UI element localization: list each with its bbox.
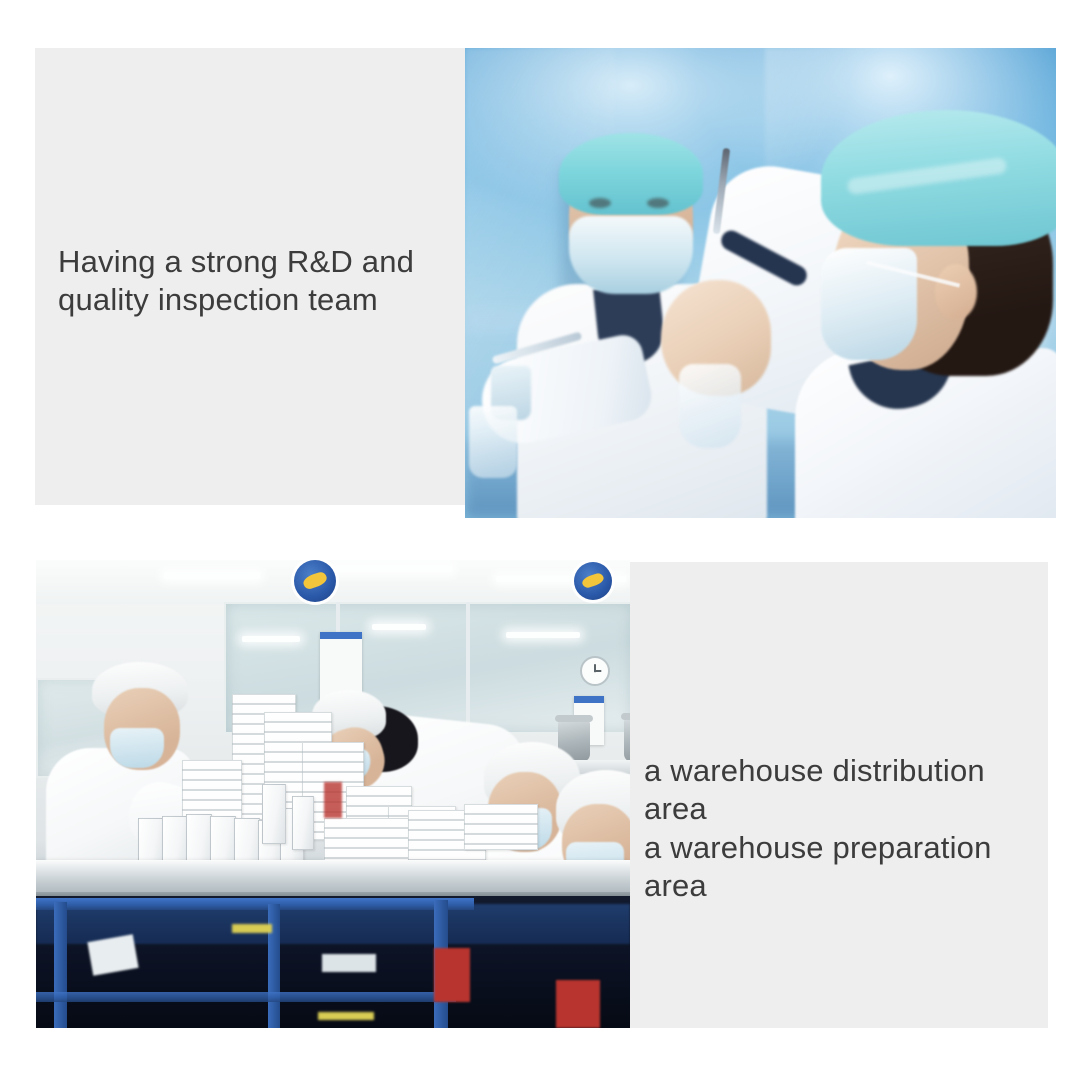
safety-sign-icon-2 [574, 562, 612, 600]
carton-box-tall [262, 784, 286, 844]
technician-left-eye [589, 198, 611, 208]
under-shelf-box [322, 954, 376, 972]
technician-right-ear [935, 264, 977, 320]
ceiling-light-strip-2 [332, 566, 452, 572]
technician-left-facemask [569, 216, 693, 294]
floor-marking-2 [318, 1012, 374, 1020]
lab-inspection-photo [465, 48, 1056, 518]
red-accent [324, 782, 342, 818]
bottom-caption-text: a warehouse distribution area a warehous… [644, 752, 1044, 906]
glass-flask [679, 364, 741, 448]
floor-marking [232, 924, 272, 933]
technician-left-eye-2 [647, 198, 669, 208]
beaker [469, 406, 517, 478]
red-trouser [556, 980, 600, 1028]
window-interior-light-3 [506, 632, 580, 638]
carton-box-8 [292, 796, 314, 850]
window-interior-light-2 [372, 624, 426, 630]
window-mullion-2 [466, 602, 470, 730]
warehouse-packaging-photo [36, 560, 630, 1028]
ceiling-light-strip [164, 572, 260, 579]
table-lower-rail [36, 992, 456, 1002]
wall-clock [580, 656, 610, 686]
steel-table-top [36, 860, 630, 896]
top-caption-text: Having a strong R&D and quality inspecti… [58, 243, 458, 320]
flat-carton-stack-3 [464, 804, 538, 850]
table-rail [36, 898, 474, 910]
worker-left-facemask [110, 728, 164, 768]
window-interior-light [242, 636, 300, 642]
banner-page: Having a strong R&D and quality inspecti… [0, 0, 1080, 1080]
safety-sign-icon [294, 560, 336, 602]
table-leg-2 [268, 904, 280, 1028]
table-leg [54, 902, 67, 1028]
technician-left-hairnet [559, 133, 703, 215]
red-crate [434, 948, 470, 1002]
